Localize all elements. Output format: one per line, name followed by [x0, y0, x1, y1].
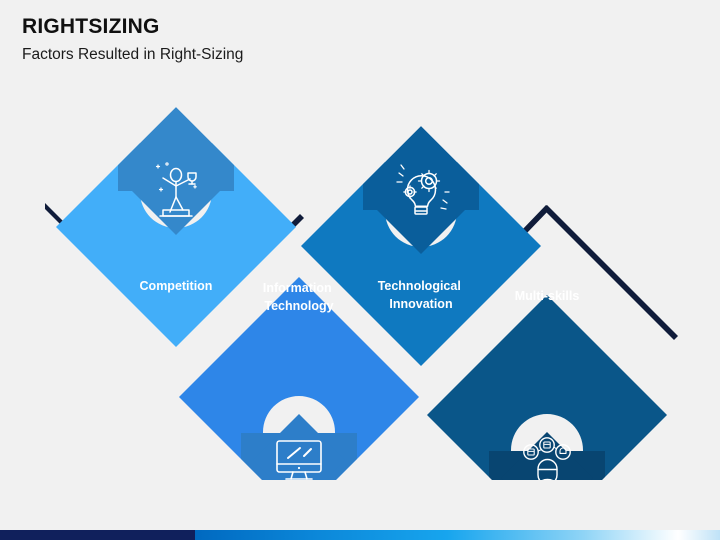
footer-navy-segment [0, 530, 195, 540]
slide-header: RIGHTSIZING Factors Resulted in Right-Si… [22, 14, 662, 66]
information-technology-icon-panel-upper [253, 414, 345, 480]
node-competition[interactable]: Competition [56, 107, 296, 347]
footer-accent-bar [0, 530, 720, 540]
footer-gradient-segment [195, 530, 720, 540]
page-title: RIGHTSIZING [22, 14, 662, 40]
slide-canvas: RIGHTSIZING Factors Resulted in Right-Si… [0, 0, 720, 540]
competition-label: Competition [140, 279, 213, 293]
rightsizing-diamond-diagram: Competition [0, 60, 720, 480]
competition-icon-cap [118, 107, 234, 191]
multi-skills-label: Multi-skills [515, 289, 580, 303]
